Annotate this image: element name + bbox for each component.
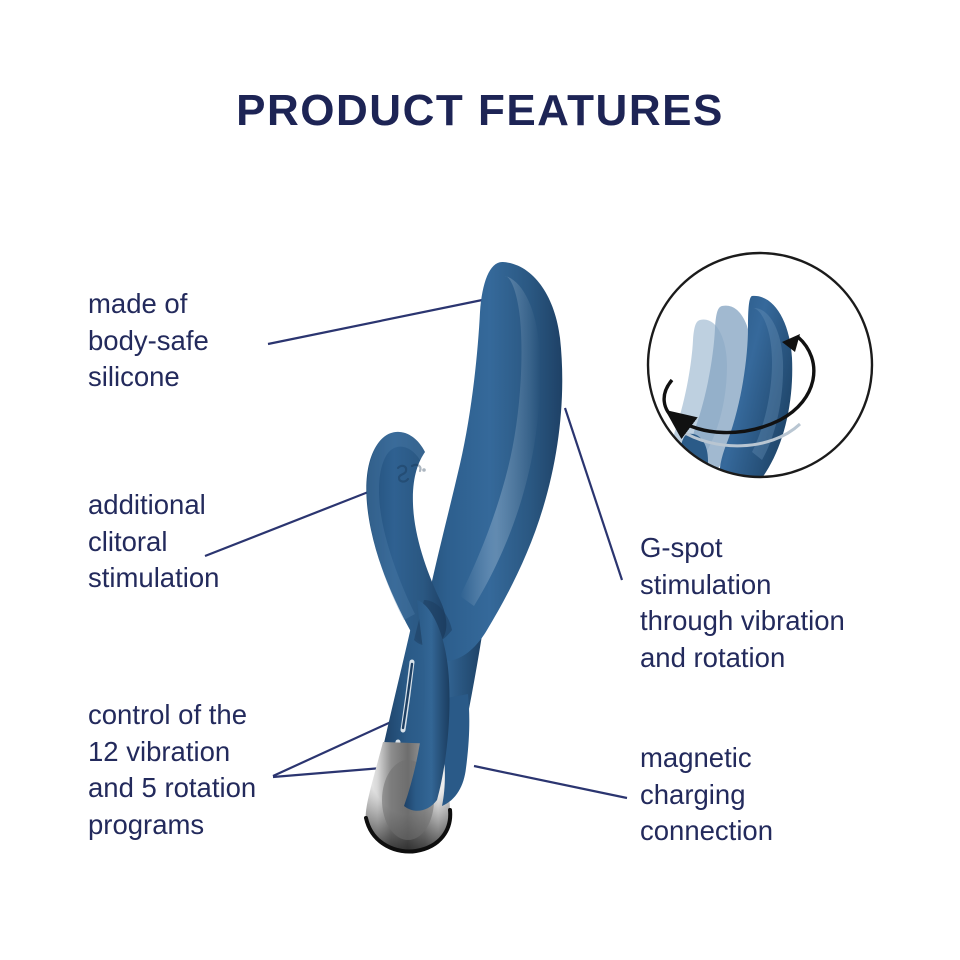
product-body xyxy=(366,262,563,852)
callout-silicone: made of body-safe silicone xyxy=(88,286,318,396)
rotation-arrow-left xyxy=(664,380,676,420)
product-features-infographic: PRODUCT FEATURES xyxy=(0,0,960,960)
rotation-detail-inset xyxy=(648,253,872,516)
callout-magnetic: magnetic charging connection xyxy=(640,740,870,850)
callout-control: control of the 12 vibration and 5 rotati… xyxy=(88,697,348,843)
leader-line-gspot xyxy=(565,408,622,580)
leader-line-magnetic xyxy=(474,766,627,798)
callout-clitoral: additional clitoral stimulation xyxy=(88,487,323,597)
callout-gspot: G-spot stimulation through vibration and… xyxy=(640,530,900,676)
product-shaft xyxy=(423,262,562,661)
